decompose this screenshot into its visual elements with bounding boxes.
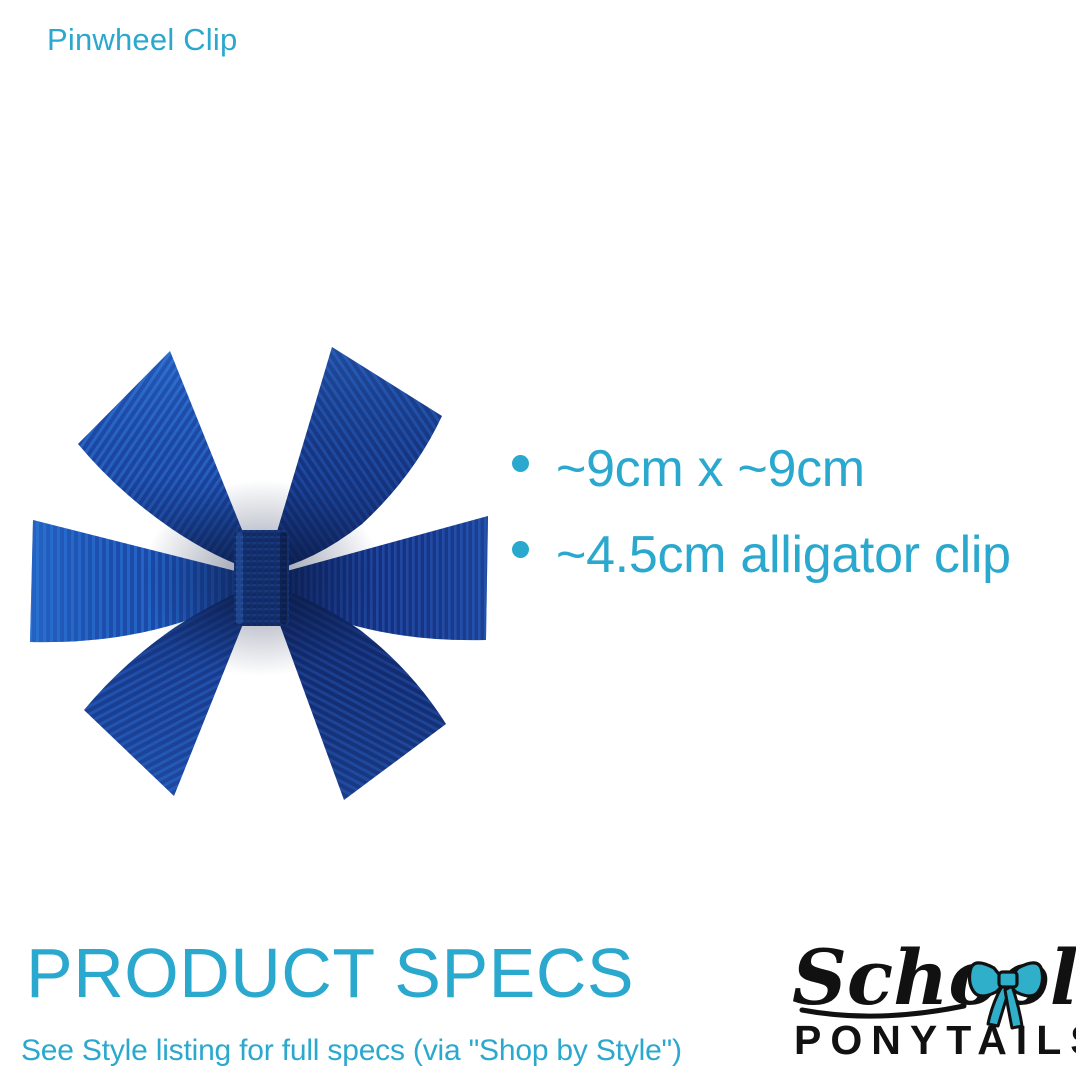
bullet-icon [512, 455, 529, 472]
spec-item-label: ~4.5cm alligator clip [556, 518, 1052, 592]
spec-list-item: ~4.5cm alligator clip [512, 518, 1052, 592]
pinwheel-bow-illustration [22, 344, 496, 806]
page-title: Pinwheel Clip [47, 22, 237, 58]
brand-logo: School PONYTAILS [788, 938, 1076, 1066]
footer-heading: PRODUCT SPECS [26, 936, 634, 1010]
bullet-icon [512, 541, 529, 558]
bow-centre-knot [234, 530, 289, 626]
spec-list: ~9cm x ~9cm ~4.5cm alligator clip [512, 432, 1052, 604]
spec-item-label: ~9cm x ~9cm [556, 432, 1052, 506]
spec-list-item: ~9cm x ~9cm [512, 432, 1052, 506]
footer-subtext: See Style listing for full specs (via "S… [21, 1033, 682, 1069]
logo-block-word: PONYTAILS [794, 1017, 1076, 1063]
product-image [22, 344, 496, 806]
school-ponytails-logo: School PONYTAILS [788, 938, 1076, 1066]
